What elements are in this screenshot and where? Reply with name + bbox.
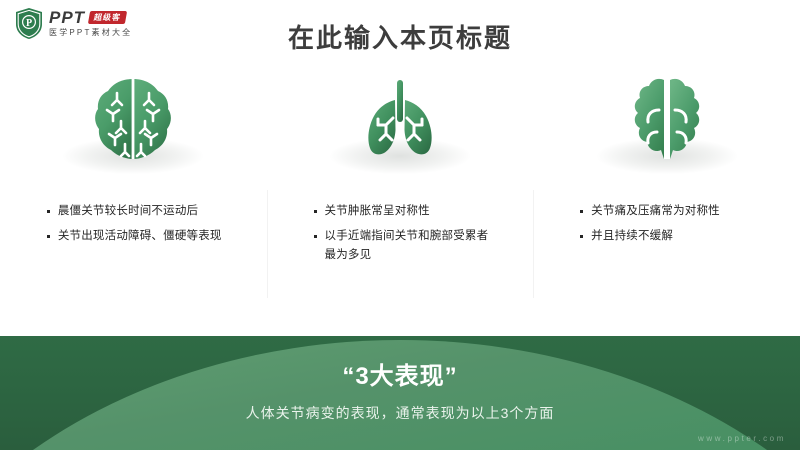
banner-text-block: “3大表现” 人体关节病变的表现，通常表现为以上3个方面	[0, 336, 800, 423]
bottom-banner: “3大表现” 人体关节病变的表现，通常表现为以上3个方面 www.ppter.c…	[0, 336, 800, 450]
bullet-item: 关节肿胀常呈对称性	[314, 202, 493, 221]
content-column-2: 关节肿胀常呈对称性 以手近端指间关节和腕部受累者最为多见	[267, 72, 534, 312]
brain-icon	[91, 76, 175, 162]
icon-container-3	[582, 72, 752, 180]
banner-title: “3大表现”	[0, 356, 800, 391]
bullet-list-3: 关节痛及压痛常为对称性 并且持续不缓解	[574, 202, 759, 252]
bullet-list-1: 晨僵关节较长时间不运动后 关节出现活动障碍、僵硬等表现	[41, 202, 226, 252]
bullet-list-2: 关节肿胀常呈对称性 以手近端指间关节和腕部受累者最为多见	[308, 202, 493, 271]
bullet-item: 关节痛及压痛常为对称性	[580, 202, 759, 221]
brain-lobed-icon	[625, 76, 709, 162]
icon-container-1	[48, 72, 218, 180]
content-column-1: 晨僵关节较长时间不运动后 关节出现活动障碍、僵硬等表现	[0, 72, 267, 312]
watermark-text: www.ppter.com	[698, 434, 786, 443]
bullet-item: 晨僵关节较长时间不运动后	[47, 202, 226, 221]
content-columns: 晨僵关节较长时间不运动后 关节出现活动障碍、僵硬等表现	[0, 72, 800, 312]
content-column-3: 关节痛及压痛常为对称性 并且持续不缓解	[533, 72, 800, 312]
bullet-item: 以手近端指间关节和腕部受累者最为多见	[314, 227, 493, 265]
slide-canvas: P PPT 超级客 医学PPT素材大全 在此输入本页标题	[0, 0, 800, 450]
icon-container-2	[315, 72, 485, 180]
banner-subtitle: 人体关节病变的表现，通常表现为以上3个方面	[0, 403, 800, 423]
bullet-item: 关节出现活动障碍、僵硬等表现	[47, 227, 226, 246]
page-title: 在此输入本页标题	[0, 18, 800, 55]
lungs-icon	[355, 76, 445, 162]
bullet-item: 并且持续不缓解	[580, 227, 759, 246]
